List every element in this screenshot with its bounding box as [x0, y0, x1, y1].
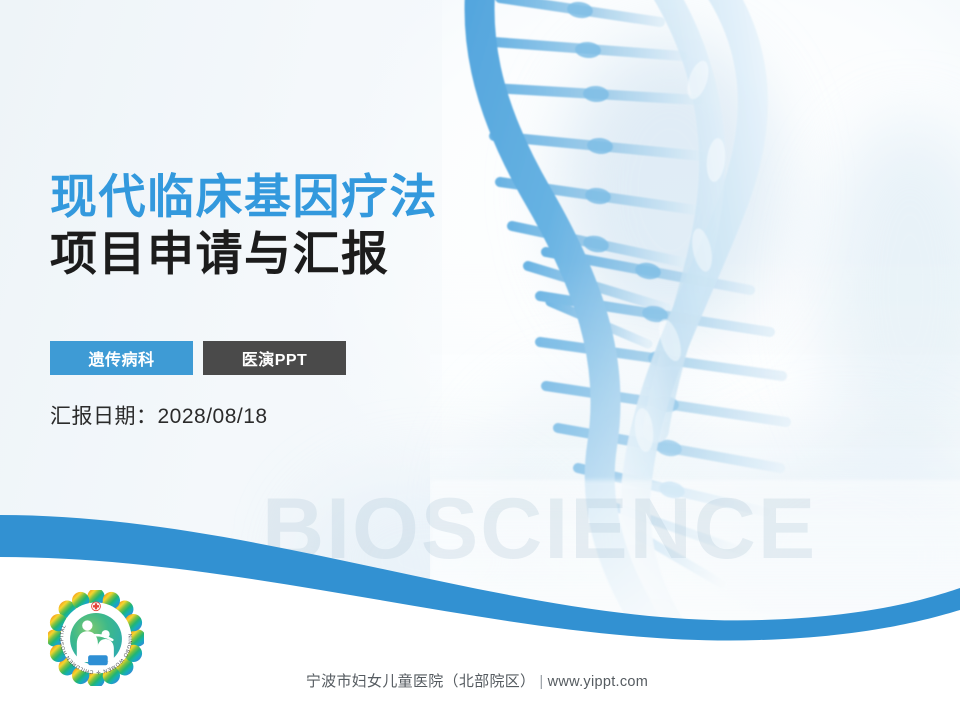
title-line-secondary: 项目申请与汇报 [50, 225, 438, 282]
footer-separator: | [535, 673, 547, 690]
status-badge-department[interactable]: 遗传病科 [50, 341, 193, 375]
page-title: 现代临床基因疗法 项目申请与汇报 [50, 168, 438, 283]
presentation-cover-slide: BIOSCIENCE 现代临床基因疗法 项目申请与汇报 遗传病科 医演PPT 汇… [0, 0, 960, 720]
footer-website-link[interactable]: www.yippt.com [548, 674, 649, 690]
report-date-label: 汇报日期：2028/08/18 [50, 400, 268, 430]
status-badge-template[interactable]: 医演PPT [203, 341, 346, 375]
footer-organization: 宁波市妇女儿童医院（北部院区） [306, 673, 536, 690]
footer: 宁波市妇女儿童医院（北部院区）|www.yippt.com [0, 670, 960, 691]
badge-group: 遗传病科 医演PPT [50, 341, 346, 375]
title-line-primary: 现代临床基因疗法 [50, 168, 438, 225]
